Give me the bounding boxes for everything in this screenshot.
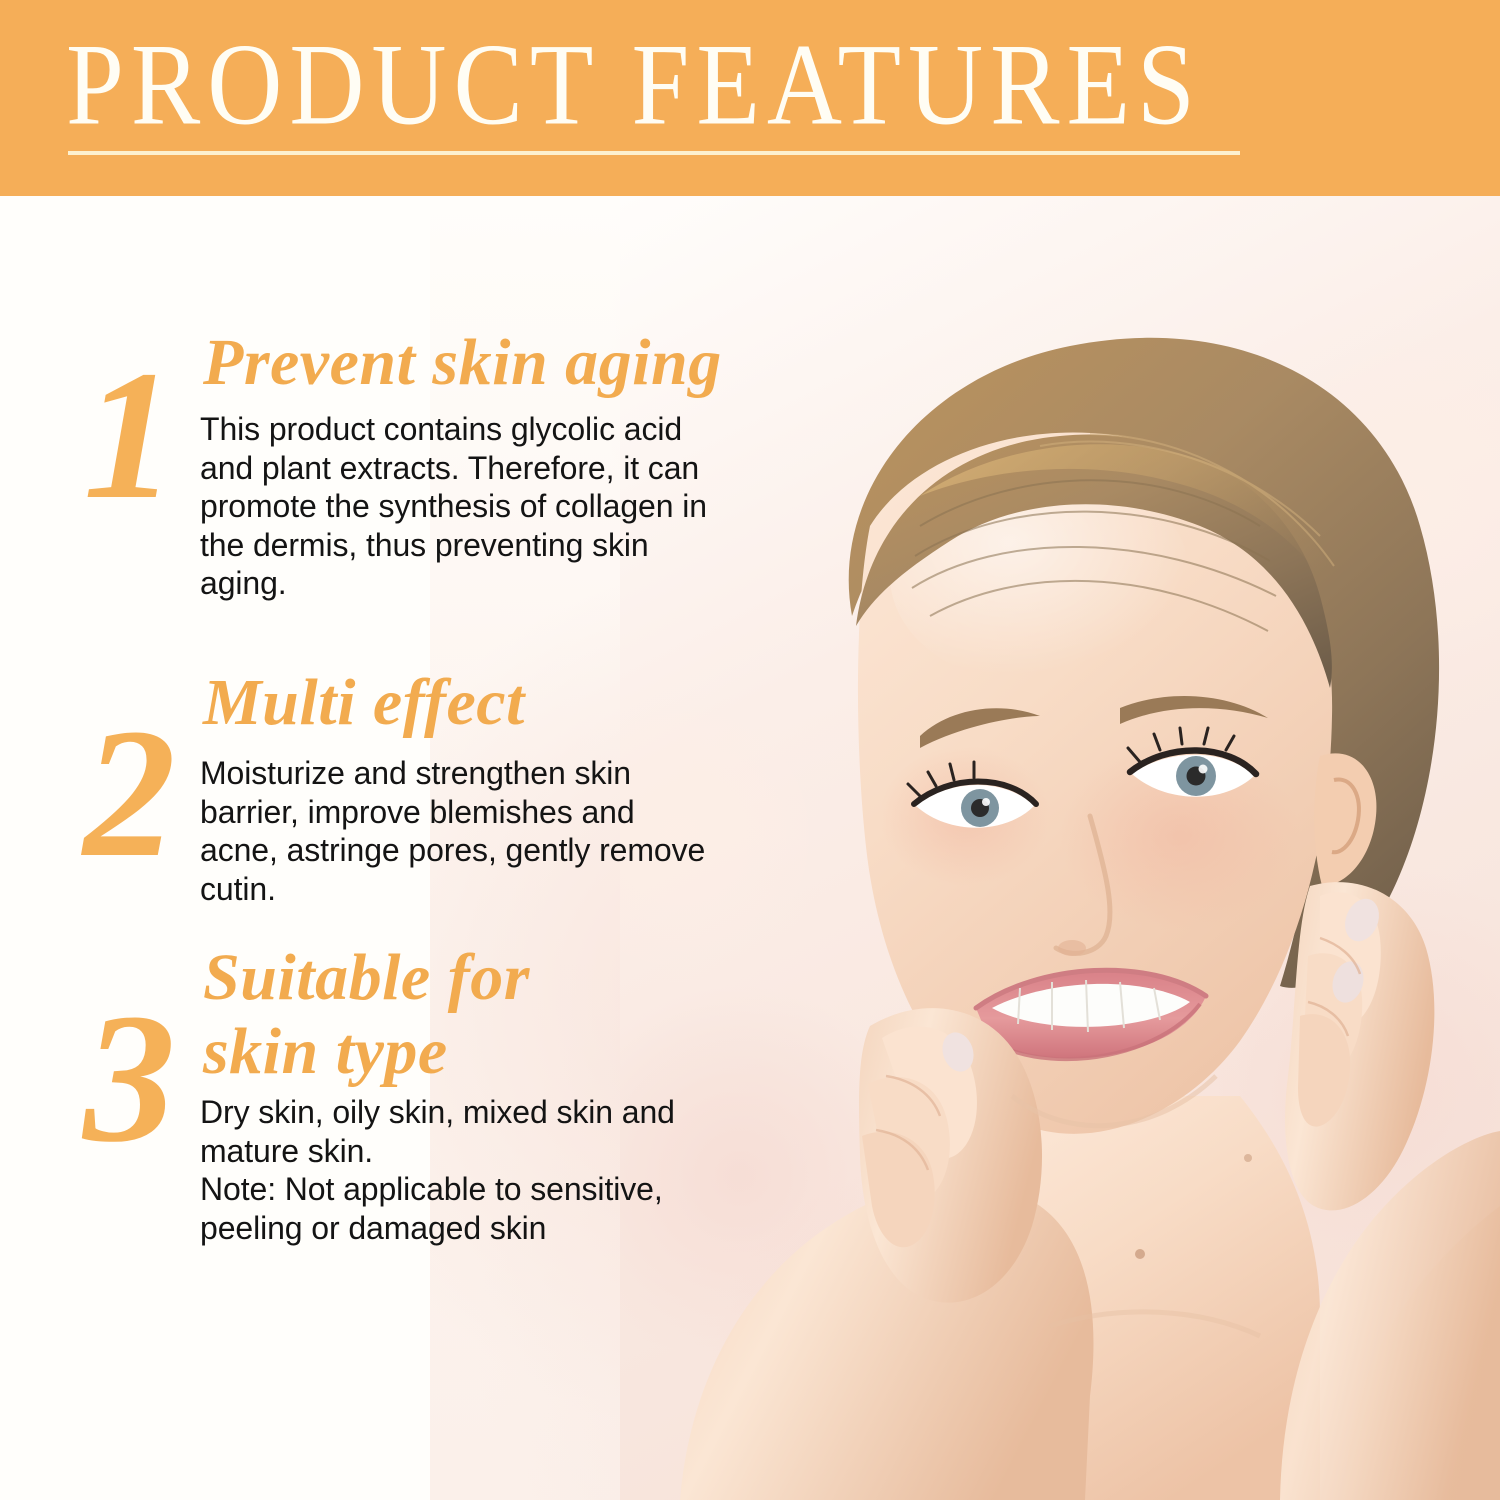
page-title: PRODUCT FEATURES bbox=[66, 24, 1202, 147]
infographic-page: PRODUCT FEATURES bbox=[0, 0, 1500, 1500]
feature-body-3: Dry skin, oily skin, mixed skin and matu… bbox=[200, 1093, 720, 1247]
title-underline bbox=[68, 151, 1240, 155]
header-band: PRODUCT FEATURES bbox=[0, 0, 1500, 196]
feature-heading-1: Prevent skin aging bbox=[203, 326, 722, 400]
feature-body-2: Moisturize and strengthen skin barrier, … bbox=[200, 754, 720, 908]
feature-number-2: 2 bbox=[62, 714, 197, 874]
features-list: 1 Prevent skin aging This product contai… bbox=[0, 196, 760, 1500]
feature-body-1: This product contains glycolic acid and … bbox=[200, 410, 720, 603]
feature-number-1: 1 bbox=[62, 356, 197, 516]
feature-number-3: 3 bbox=[62, 999, 197, 1159]
feature-heading-2: Multi effect bbox=[203, 666, 525, 740]
feature-heading-3: Suitable for skin type bbox=[203, 941, 530, 1089]
